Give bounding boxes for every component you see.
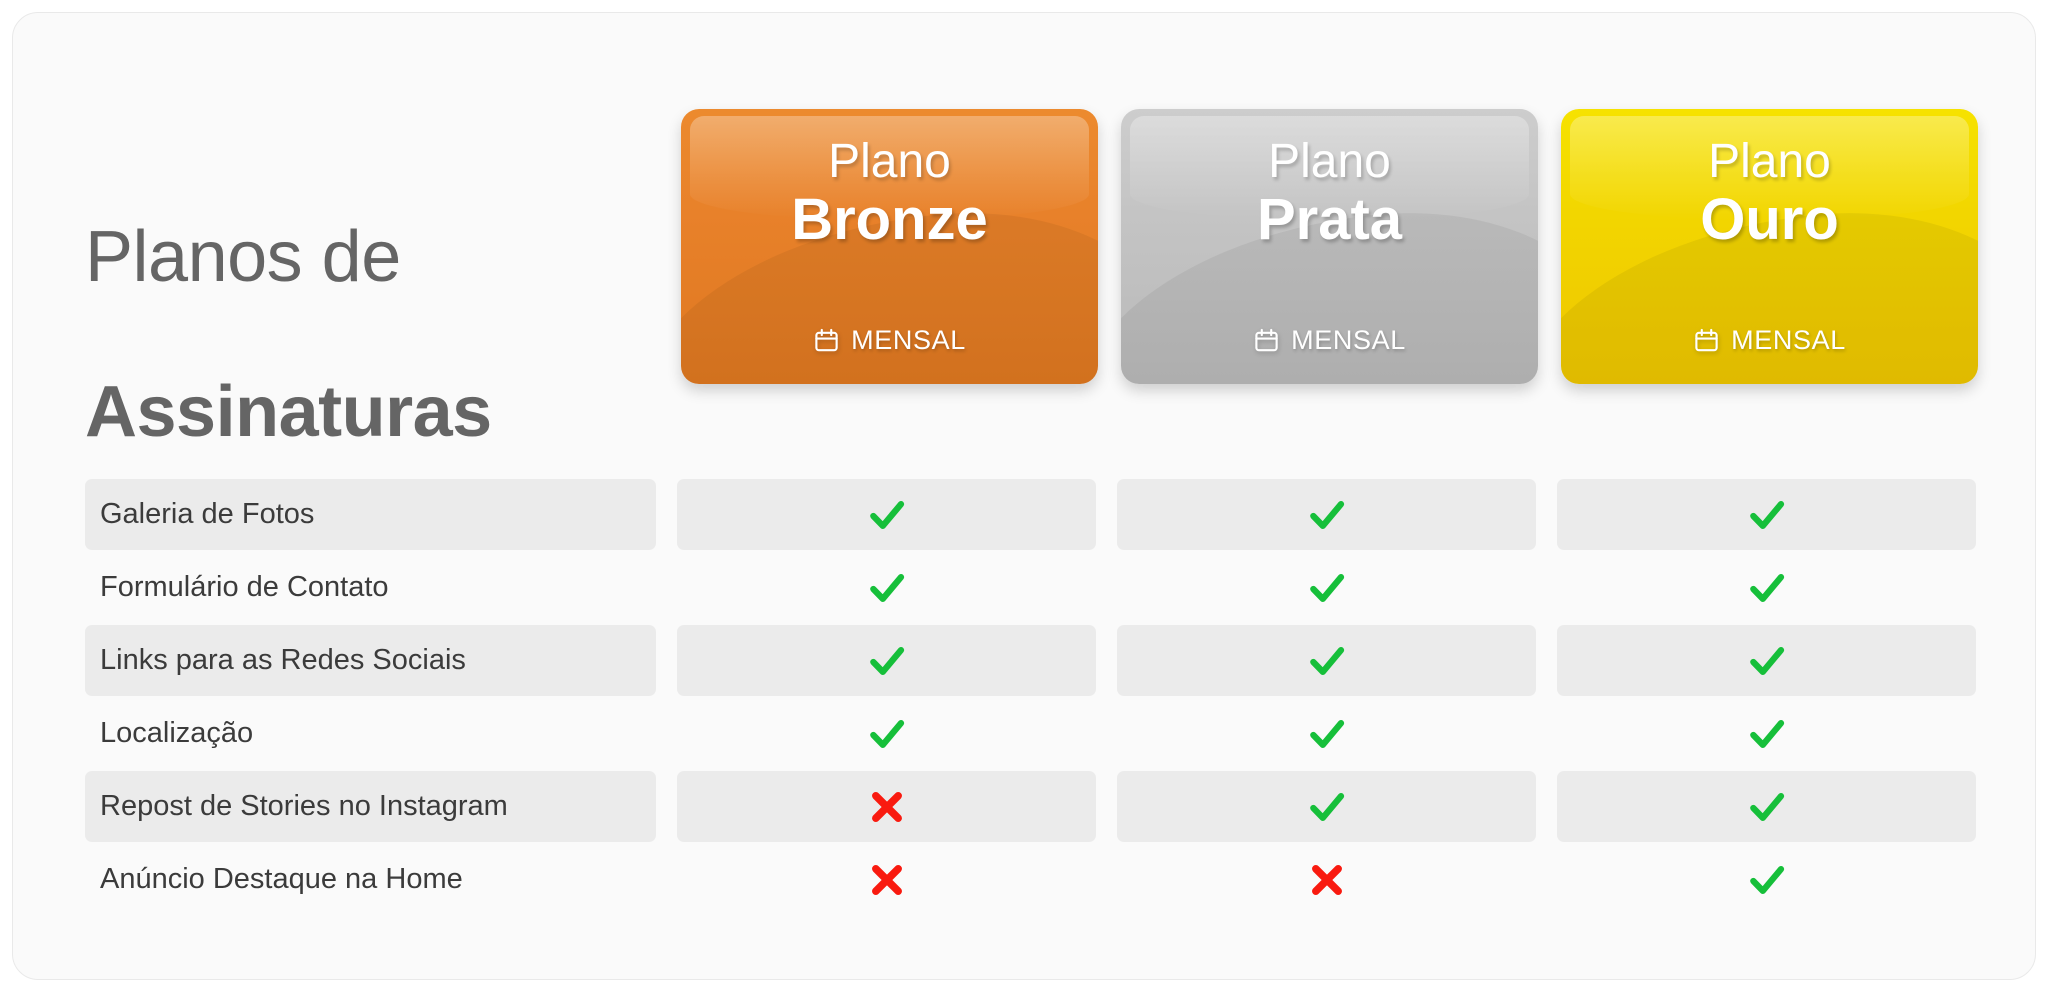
- check-icon: [1306, 786, 1348, 828]
- column-gap: [1096, 479, 1117, 550]
- page-title-line-1: Planos de: [85, 219, 492, 297]
- check-icon: [1746, 786, 1788, 828]
- availability-cell-bronze: [677, 771, 1096, 842]
- plan-period-badge: MENSAL: [1693, 325, 1846, 356]
- availability-cell-prata: [1117, 625, 1536, 696]
- plan-period-label: MENSAL: [851, 325, 966, 356]
- comparison-table: Galeria de FotosFormulário de ContatoLin…: [85, 479, 1989, 917]
- pricing-comparison-page: Planos de Assinaturas PlanoBronzeMENSALP…: [0, 0, 2048, 992]
- plan-name: Ouro: [1700, 189, 1839, 250]
- check-icon: [866, 567, 908, 609]
- availability-cell-prata: [1117, 698, 1536, 769]
- availability-cell-prata: [1117, 771, 1536, 842]
- calendar-icon: [1693, 327, 1720, 354]
- table-row: Anúncio Destaque na Home: [85, 844, 1989, 915]
- cross-icon: [866, 786, 908, 828]
- cross-icon: [1306, 859, 1348, 901]
- feature-label: Links para as Redes Sociais: [85, 625, 656, 696]
- availability-cell-prata: [1117, 479, 1536, 550]
- table-row: Links para as Redes Sociais: [85, 625, 1989, 696]
- column-gap: [656, 552, 677, 623]
- plan-period-label: MENSAL: [1731, 325, 1846, 356]
- availability-cell-ouro: [1557, 698, 1976, 769]
- column-gap: [1536, 698, 1557, 769]
- check-icon: [1746, 567, 1788, 609]
- plan-name: Prata: [1257, 189, 1402, 250]
- plan-period-badge: MENSAL: [813, 325, 966, 356]
- plan-card-bronze[interactable]: PlanoBronzeMENSAL: [681, 109, 1098, 384]
- column-gap: [1096, 698, 1117, 769]
- availability-cell-ouro: [1557, 771, 1976, 842]
- availability-cell-ouro: [1557, 479, 1976, 550]
- check-icon: [866, 713, 908, 755]
- column-gap: [1536, 552, 1557, 623]
- plan-word: Plano: [1268, 137, 1391, 187]
- column-gap: [1096, 844, 1117, 915]
- table-row: Formulário de Contato: [85, 552, 1989, 623]
- page-title: Planos de Assinaturas: [85, 141, 492, 530]
- column-gap: [656, 844, 677, 915]
- column-gap: [1096, 625, 1117, 696]
- plan-period-badge: MENSAL: [1253, 325, 1406, 356]
- plan-card-ouro[interactable]: PlanoOuroMENSAL: [1561, 109, 1978, 384]
- plan-card-prata[interactable]: PlanoPrataMENSAL: [1121, 109, 1538, 384]
- availability-cell-bronze: [677, 625, 1096, 696]
- plan-word: Plano: [828, 137, 951, 187]
- column-gap: [1536, 844, 1557, 915]
- availability-cell-bronze: [677, 479, 1096, 550]
- check-icon: [1746, 494, 1788, 536]
- column-gap: [656, 771, 677, 842]
- check-icon: [1306, 713, 1348, 755]
- check-icon: [1746, 859, 1788, 901]
- calendar-icon: [1253, 327, 1280, 354]
- column-gap: [656, 625, 677, 696]
- availability-cell-prata: [1117, 552, 1536, 623]
- check-icon: [1746, 640, 1788, 682]
- check-icon: [1306, 494, 1348, 536]
- check-icon: [866, 640, 908, 682]
- header-section: Planos de Assinaturas PlanoBronzeMENSALP…: [13, 13, 2035, 413]
- availability-cell-ouro: [1557, 844, 1976, 915]
- check-icon: [866, 494, 908, 536]
- feature-label: Formulário de Contato: [85, 552, 656, 623]
- plan-name: Bronze: [791, 189, 988, 250]
- availability-cell-bronze: [677, 552, 1096, 623]
- column-gap: [1536, 625, 1557, 696]
- table-row: Localização: [85, 698, 1989, 769]
- table-row: Galeria de Fotos: [85, 479, 1989, 550]
- plan-word: Plano: [1708, 137, 1831, 187]
- page-title-line-2: Assinaturas: [85, 374, 492, 452]
- column-gap: [656, 698, 677, 769]
- column-gap: [1096, 771, 1117, 842]
- plan-period-label: MENSAL: [1291, 325, 1406, 356]
- feature-label: Repost de Stories no Instagram: [85, 771, 656, 842]
- check-icon: [1306, 567, 1348, 609]
- feature-label: Galeria de Fotos: [85, 479, 656, 550]
- availability-cell-bronze: [677, 698, 1096, 769]
- column-gap: [1536, 479, 1557, 550]
- availability-cell-ouro: [1557, 552, 1976, 623]
- availability-cell-ouro: [1557, 625, 1976, 696]
- feature-label: Anúncio Destaque na Home: [85, 844, 656, 915]
- feature-label: Localização: [85, 698, 656, 769]
- check-icon: [1746, 713, 1788, 755]
- column-gap: [656, 479, 677, 550]
- calendar-icon: [813, 327, 840, 354]
- availability-cell-bronze: [677, 844, 1096, 915]
- cross-icon: [866, 859, 908, 901]
- table-row: Repost de Stories no Instagram: [85, 771, 1989, 842]
- column-gap: [1536, 771, 1557, 842]
- check-icon: [1306, 640, 1348, 682]
- column-gap: [1096, 552, 1117, 623]
- availability-cell-prata: [1117, 844, 1536, 915]
- content-panel: Planos de Assinaturas PlanoBronzeMENSALP…: [12, 12, 2036, 980]
